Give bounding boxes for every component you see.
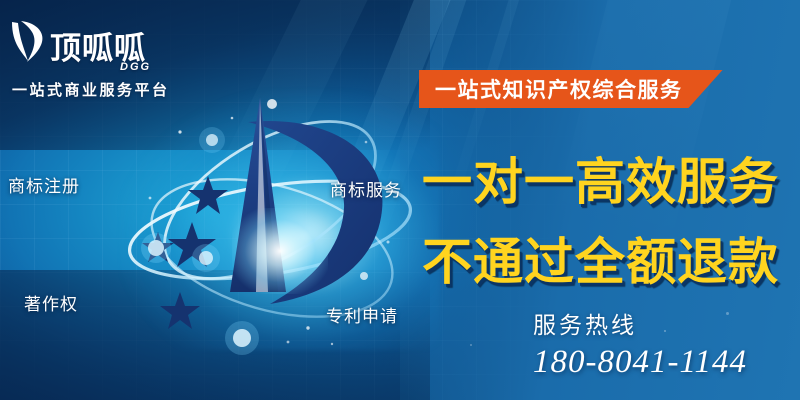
promo-headline-line2: 不通过全额退款 <box>422 222 779 294</box>
logo-latin-text: DGG <box>120 61 198 73</box>
brand-logo[interactable]: 顶呱呱 DGG 一站式商业服务平台 <box>8 12 198 100</box>
promo-ribbon-text: 一站式知识产权综合服务 <box>435 74 683 104</box>
service-label-copyright: 著作权 <box>24 290 78 315</box>
logo-tagline: 一站式商业服务平台 <box>12 79 198 100</box>
promo-ribbon: 一站式知识产权综合服务 <box>419 70 723 108</box>
hotline-label: 服务热线 <box>533 306 637 340</box>
service-label-patent-application: 专利申请 <box>326 302 398 327</box>
sparkle <box>470 344 472 346</box>
hotline-number[interactable]: 180-8041-1144 <box>533 344 747 381</box>
flame-leaf-mark-icon <box>8 18 48 64</box>
center-hotspot <box>232 208 328 294</box>
service-label-trademark-service: 商标服务 <box>330 176 402 201</box>
sparkle <box>664 330 666 332</box>
promo-headline-line1: 一对一高效服务 <box>422 142 779 214</box>
promo-banner: 顶呱呱 DGG 一站式商业服务平台 商标注册 著作权 商标服务 专利申请 一站式… <box>0 0 800 400</box>
sparkle <box>726 312 729 315</box>
service-label-trademark-registration: 商标注册 <box>8 172 80 197</box>
logo-wordmark: 顶呱呱 <box>50 33 146 64</box>
